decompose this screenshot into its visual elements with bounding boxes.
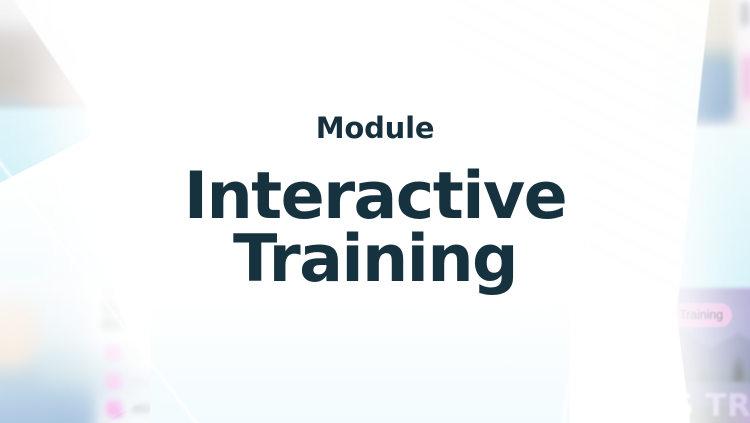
page-title: Interactive Training	[184, 166, 566, 291]
title-block: Module Interactive Training	[0, 0, 750, 423]
module-eyebrow: Module	[316, 114, 435, 143]
page-title-line-2: Training	[184, 229, 566, 291]
slide-canvas: t Interactive Training SALES TRA Module …	[0, 0, 750, 423]
